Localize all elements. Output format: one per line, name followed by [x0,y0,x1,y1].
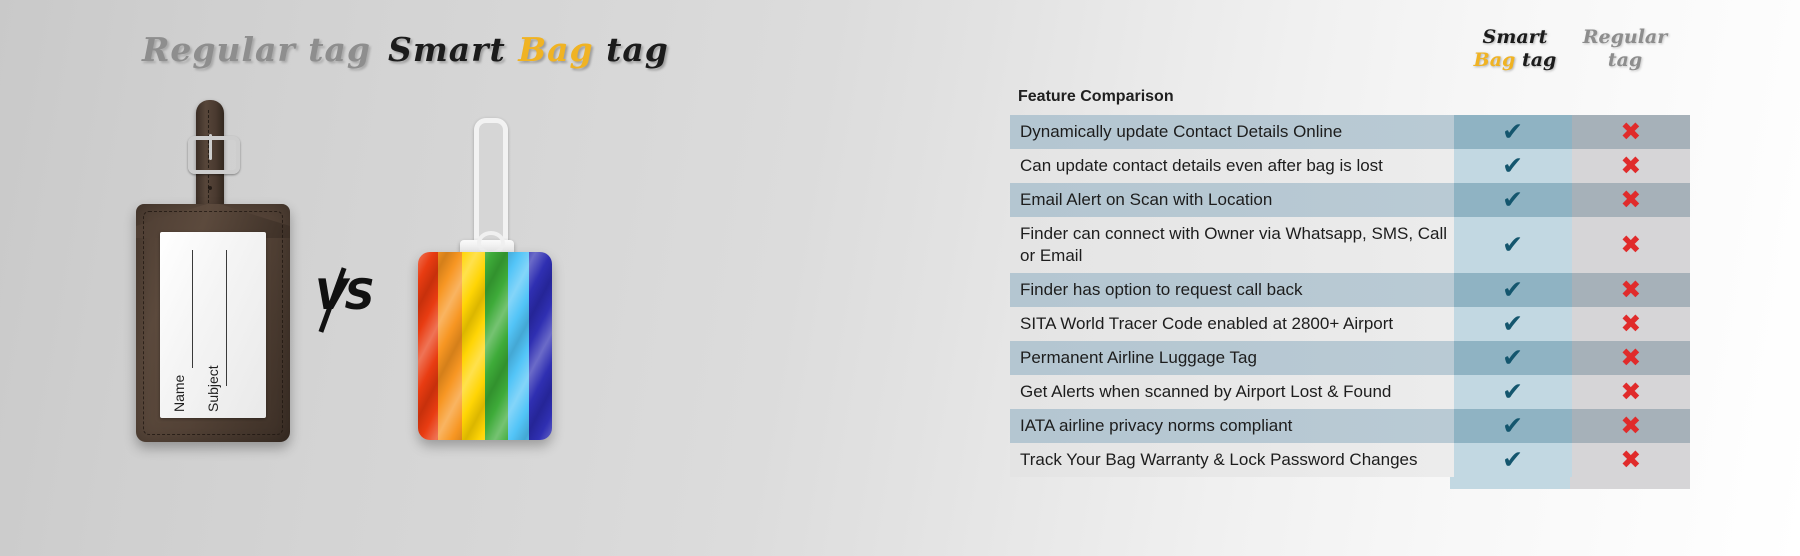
cross-icon: ✖ [1572,409,1690,443]
table-row: Permanent Airline Luggage Tag✔✖ [1010,341,1690,375]
cross-icon: ✖ [1572,183,1690,217]
column-header-smart-bag-tag: Smart Bag tag [1460,26,1570,88]
cross-icon: ✖ [1572,307,1690,341]
filler-regular-cell [1570,477,1690,489]
feature-label: Dynamically update Contact Details Onlin… [1010,115,1454,149]
column-header-regular-line2: tag [1608,49,1642,71]
column-header-regular-tag: Regular tag [1570,26,1680,88]
versus-label: VS [315,270,372,319]
card-rule-line [226,250,227,386]
feature-label: Track Your Bag Warranty & Lock Password … [1010,443,1454,477]
smart-heading-part2: tag [594,30,669,69]
cross-icon: ✖ [1572,443,1690,477]
buckle-icon [188,136,240,174]
smart-heading-part1: Smart [388,30,518,69]
column-header-smart-line1: Smart [1483,26,1548,48]
table-row: Dynamically update Contact Details Onlin… [1010,115,1690,149]
check-icon: ✔ [1454,341,1572,375]
feature-label: Get Alerts when scanned by Airport Lost … [1010,375,1454,409]
feature-label: Permanent Airline Luggage Tag [1010,341,1454,375]
regular-leather-tag-image: Name Subject [136,100,290,442]
cross-icon: ✖ [1572,375,1690,409]
table-bottom-filler [1010,477,1690,489]
table-row: SITA World Tracer Code enabled at 2800+ … [1010,307,1690,341]
tag-body: Name Subject [136,204,290,442]
table-row: Finder can connect with Owner via Whatsa… [1010,217,1690,273]
column-header-smart-gold: Bag [1474,49,1516,71]
cross-icon: ✖ [1572,115,1690,149]
card-label-subject: Subject [205,365,221,412]
column-header-smart-line2: tag [1515,49,1556,71]
check-icon: ✔ [1454,217,1572,273]
name-card: Name Subject [160,232,266,418]
cross-icon: ✖ [1572,217,1690,273]
table-row: Get Alerts when scanned by Airport Lost … [1010,375,1690,409]
cross-icon: ✖ [1572,149,1690,183]
feature-label: Can update contact details even after ba… [1010,149,1454,183]
table-row: Email Alert on Scan with Location✔✖ [1010,183,1690,217]
versus-badge: VS [312,270,368,332]
table-row: IATA airline privacy norms compliant✔✖ [1010,409,1690,443]
column-header-regular-line1: Regular [1583,26,1668,48]
feature-comparison-rows: Dynamically update Contact Details Onlin… [1010,115,1690,477]
table-row: Track Your Bag Warranty & Lock Password … [1010,443,1690,477]
feature-label: Finder has option to request call back [1010,273,1454,307]
cross-icon: ✖ [1572,341,1690,375]
card-rule-line [192,250,193,368]
rainbow-tag-body [418,252,552,440]
check-icon: ✔ [1454,375,1572,409]
filler-smart-cell [1450,477,1570,489]
feature-label: Email Alert on Scan with Location [1010,183,1454,217]
feature-label: IATA airline privacy norms compliant [1010,409,1454,443]
feature-comparison-title: Feature Comparison [1010,88,1690,115]
comparison-column-headers: Smart Bag tag Regular tag [1460,26,1700,88]
card-label-name: Name [171,375,187,412]
check-icon: ✔ [1454,149,1572,183]
feature-label: Finder can connect with Owner via Whatsa… [1010,217,1454,273]
filler-label-cell [1010,477,1450,489]
cross-icon: ✖ [1572,273,1690,307]
regular-tag-heading: Regular tag [142,30,371,69]
strap-hole [208,186,212,190]
check-icon: ✔ [1454,443,1572,477]
smart-heading-gold: Bag [518,30,593,69]
feature-comparison-table: Feature Comparison Dynamically update Co… [1010,88,1690,489]
smart-bag-tag-image [418,118,552,440]
check-icon: ✔ [1454,183,1572,217]
check-icon: ✔ [1454,273,1572,307]
check-icon: ✔ [1454,409,1572,443]
table-row: Finder has option to request call back✔✖ [1010,273,1690,307]
table-row: Can update contact details even after ba… [1010,149,1690,183]
check-icon: ✔ [1454,307,1572,341]
comparison-banner: Regular tag Smart Bag tag Name Subject V… [0,0,1800,556]
smart-bag-tag-heading: Smart Bag tag [388,30,669,69]
feature-label: SITA World Tracer Code enabled at 2800+ … [1010,307,1454,341]
check-icon: ✔ [1454,115,1572,149]
